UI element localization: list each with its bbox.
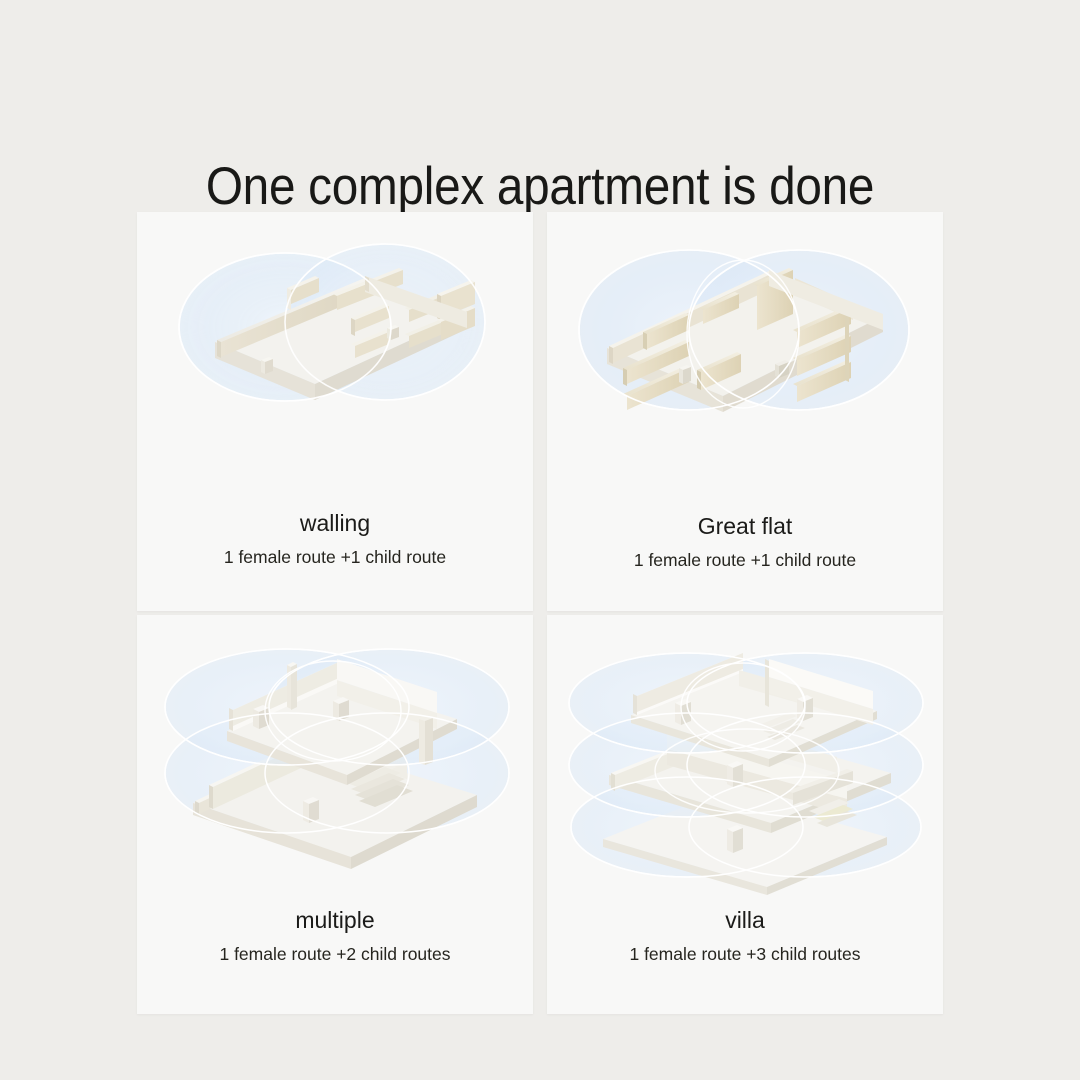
card-title: Great flat (547, 511, 943, 541)
card-title: multiple (137, 905, 533, 935)
floorplan-svg (137, 615, 533, 901)
card-subtitle: 1 female route +3 child routes (547, 942, 943, 966)
isometric-floorplan-scene (137, 212, 533, 498)
card-illustration-multiple (137, 615, 533, 901)
card-illustration-great-flat (547, 212, 943, 498)
floorplan-svg (547, 212, 943, 498)
isometric-floorplan-scene (547, 212, 943, 498)
card-walling[interactable]: walling 1 female route +1 child route (137, 212, 533, 611)
card-illustration-villa (547, 615, 943, 901)
isometric-floorplan-scene (547, 615, 943, 901)
isometric-floorplan-scene (137, 615, 533, 901)
furniture-level3 (727, 825, 743, 853)
card-title: villa (547, 905, 943, 935)
card-villa[interactable]: villa 1 female route +3 child routes (547, 615, 943, 1014)
floorplan-svg (137, 212, 533, 498)
card-caption-multiple: multiple 1 female route +2 child routes (137, 905, 533, 966)
card-subtitle: 1 female route +1 child route (547, 548, 943, 572)
card-subtitle: 1 female route +1 child route (137, 545, 533, 569)
card-great-flat[interactable]: Great flat 1 female route +1 child route (547, 212, 943, 611)
poster-canvas: One complex apartment is done (0, 0, 1080, 1080)
card-grid: walling 1 female route +1 child route (137, 212, 943, 1014)
card-multiple[interactable]: multiple 1 female route +2 child routes (137, 615, 533, 1014)
card-caption-great-flat: Great flat 1 female route +1 child route (547, 511, 943, 572)
card-caption-walling: walling 1 female route +1 child route (137, 508, 533, 569)
card-subtitle: 1 female route +2 child routes (137, 942, 533, 966)
card-illustration-walling (137, 212, 533, 498)
card-title: walling (137, 508, 533, 538)
floorplan-svg (547, 615, 943, 901)
page-title: One complex apartment is done (54, 154, 1026, 220)
card-caption-villa: villa 1 female route +3 child routes (547, 905, 943, 966)
